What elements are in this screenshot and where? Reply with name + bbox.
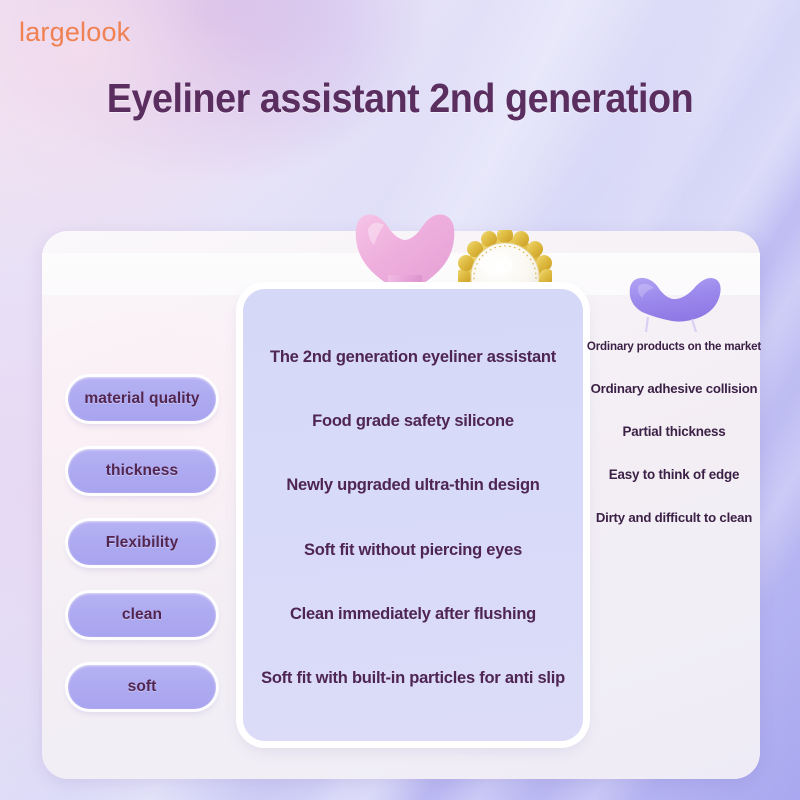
feature-item: Newly upgraded ultra-thin design [286,476,539,495]
attribute-pill-label: Flexibility [106,534,179,552]
comparison-item: Partial thickness [622,424,725,439]
attribute-pill-label: thickness [106,462,178,480]
attribute-pill-label: clean [122,606,162,624]
attribute-pill-thickness[interactable]: thickness [68,449,216,493]
attribute-pill-soft[interactable]: soft [68,665,216,709]
feature-item: The 2nd generation eyeliner assistant [270,348,556,367]
feature-item: Food grade safety silicone [312,412,514,431]
page-title: Eyeliner assistant 2nd generation [32,75,768,122]
attribute-pill-label: soft [128,678,157,696]
purple-ordinary-product-image [626,274,722,336]
attribute-pill-material-quality[interactable]: material quality [68,377,216,421]
feature-card: The 2nd generation eyeliner assistant Fo… [243,289,583,741]
attribute-pill-flexibility[interactable]: Flexibility [68,521,216,565]
brand-logo: largelook [19,17,130,48]
attribute-pill-label: material quality [84,390,199,408]
comparison-item: Ordinary adhesive collision [591,381,758,396]
feature-list: The 2nd generation eyeliner assistant Fo… [243,289,583,741]
comparison-item: Ordinary products on the market [587,340,761,353]
comparison-list: Ordinary products on the market Ordinary… [586,340,762,525]
attribute-pill-clean[interactable]: clean [68,593,216,637]
feature-item: Clean immediately after flushing [290,605,536,624]
feature-item: Soft fit without piercing eyes [304,541,522,560]
attribute-pill-list: material quality thickness Flexibility c… [68,377,218,709]
product-infographic: largelook Eyeliner assistant 2nd generat… [0,0,800,800]
comparison-item: Easy to think of edge [609,467,739,482]
feature-item: Soft fit with built-in particles for ant… [261,669,565,688]
comparison-item: Dirty and difficult to clean [596,510,752,525]
